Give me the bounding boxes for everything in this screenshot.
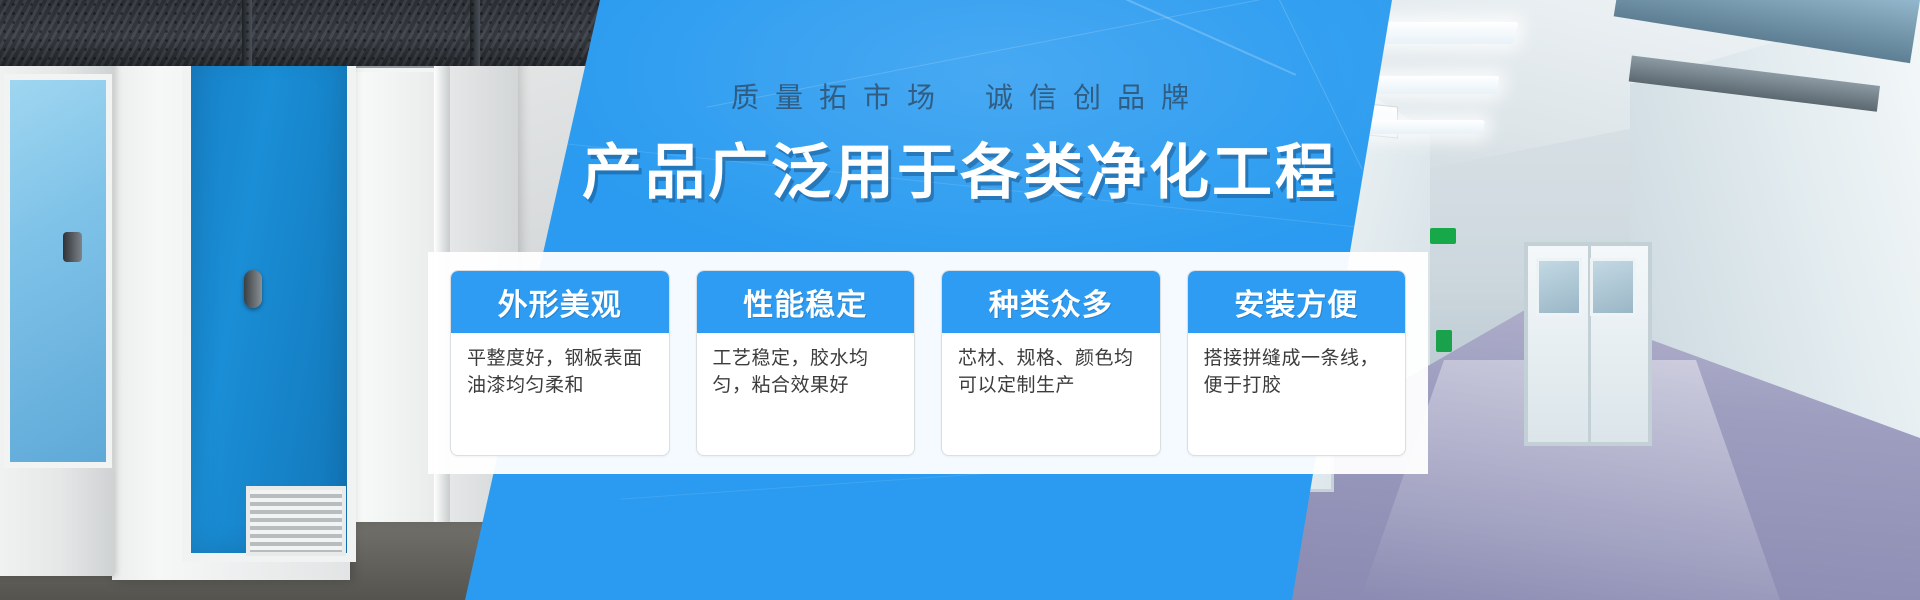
cabin-far-left-glass [4, 74, 112, 468]
corridor-ceiling-light-3 [1365, 120, 1485, 134]
feature-card-heading: 性能稳定 [697, 271, 915, 333]
cabin-far-left-lock [63, 232, 82, 262]
feature-card-body: 平整度好，钢板表面油漆均匀柔和 [451, 333, 669, 455]
feature-card-body: 工艺稳定，胶水均匀，粘合效果好 [697, 333, 915, 455]
feature-card-heading: 安装方便 [1188, 271, 1406, 333]
feature-card[interactable]: 性能稳定 工艺稳定，胶水均匀，粘合效果好 [696, 270, 916, 456]
feature-card-list: 外形美观 平整度好，钢板表面油漆均匀柔和 性能稳定 工艺稳定，胶水均匀，粘合效果… [450, 270, 1406, 456]
feature-card-body: 搭接拼缝成一条线，便于打胶 [1188, 333, 1406, 455]
feature-card-heading: 种类众多 [942, 271, 1160, 333]
feature-card-heading: 外形美观 [451, 271, 669, 333]
cabin-main-door-handle [244, 270, 262, 308]
feature-card[interactable]: 安装方便 搭接拼缝成一条线，便于打胶 [1187, 270, 1407, 456]
promo-banner: 质量拓市场诚信创品牌 产品广泛用于各类净化工程 外形美观 平整度好，钢板表面油漆… [0, 0, 1920, 600]
feature-card[interactable]: 外形美观 平整度好，钢板表面油漆均匀柔和 [450, 270, 670, 456]
corridor-green-marker [1436, 330, 1452, 352]
corridor-door-window-right [1590, 258, 1636, 316]
ceiling-beam-2 [470, 0, 480, 66]
feature-card[interactable]: 种类众多 芯材、规格、颜色均可以定制生产 [941, 270, 1161, 456]
corridor-door-window-left [1536, 258, 1582, 316]
feature-card-body: 芯材、规格、颜色均可以定制生产 [942, 333, 1160, 455]
cabin-main-blue-door [182, 44, 356, 562]
cabin-main-door-vent [246, 486, 346, 556]
ceiling-beam-1 [242, 0, 252, 66]
corridor-exit-sign [1430, 228, 1456, 244]
